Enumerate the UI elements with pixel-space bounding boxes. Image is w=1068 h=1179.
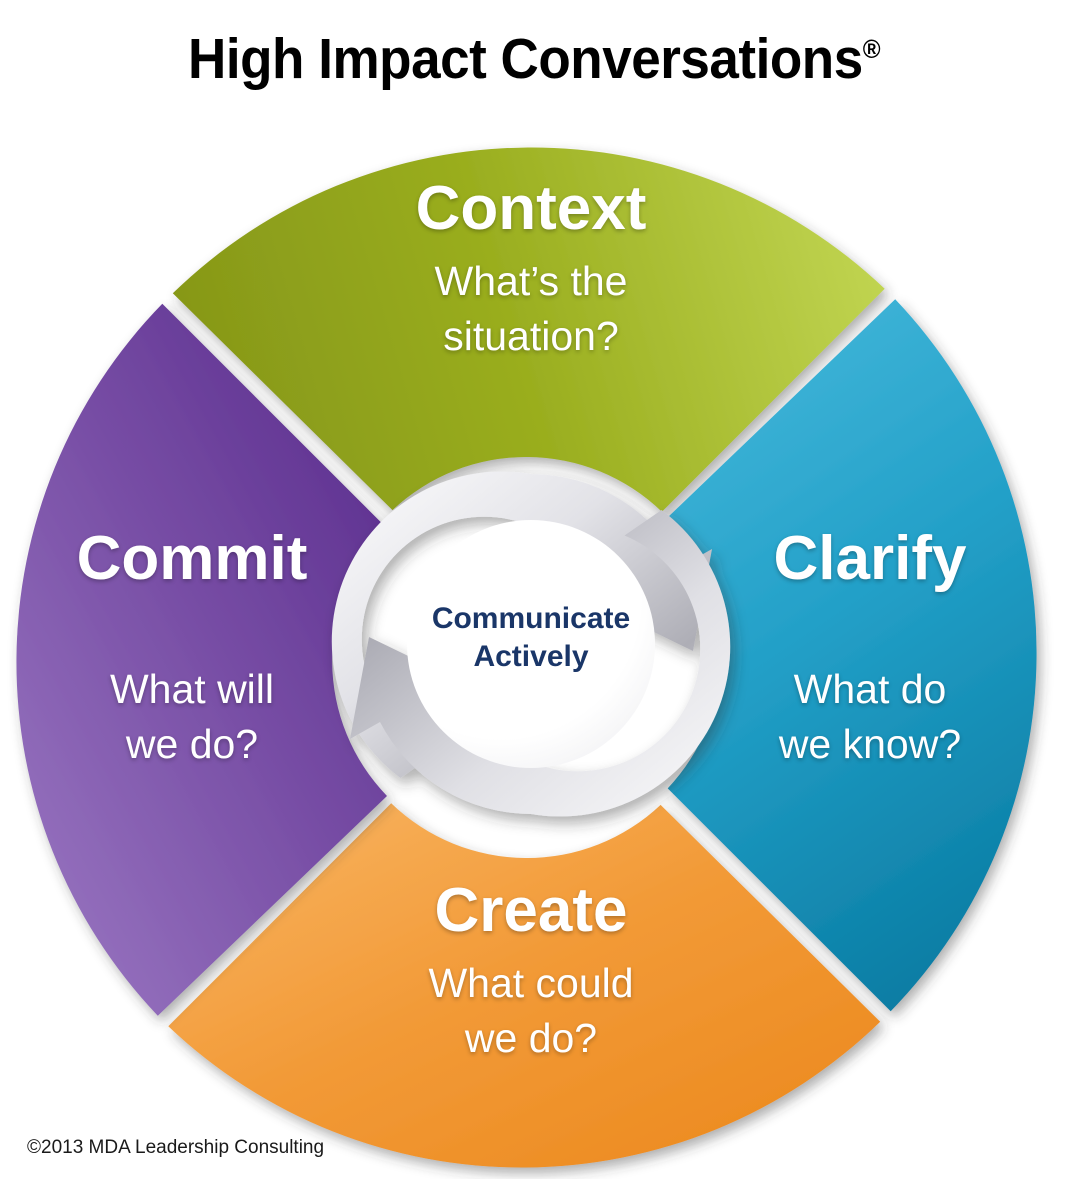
center-disc xyxy=(407,520,655,768)
wheel-svg xyxy=(0,0,1068,1179)
copyright-notice: ©2013 MDA Leadership Consulting xyxy=(27,1137,324,1159)
diagram-page: High Impact Conversations® xyxy=(0,0,1068,1179)
conversation-wheel xyxy=(0,0,1068,1179)
